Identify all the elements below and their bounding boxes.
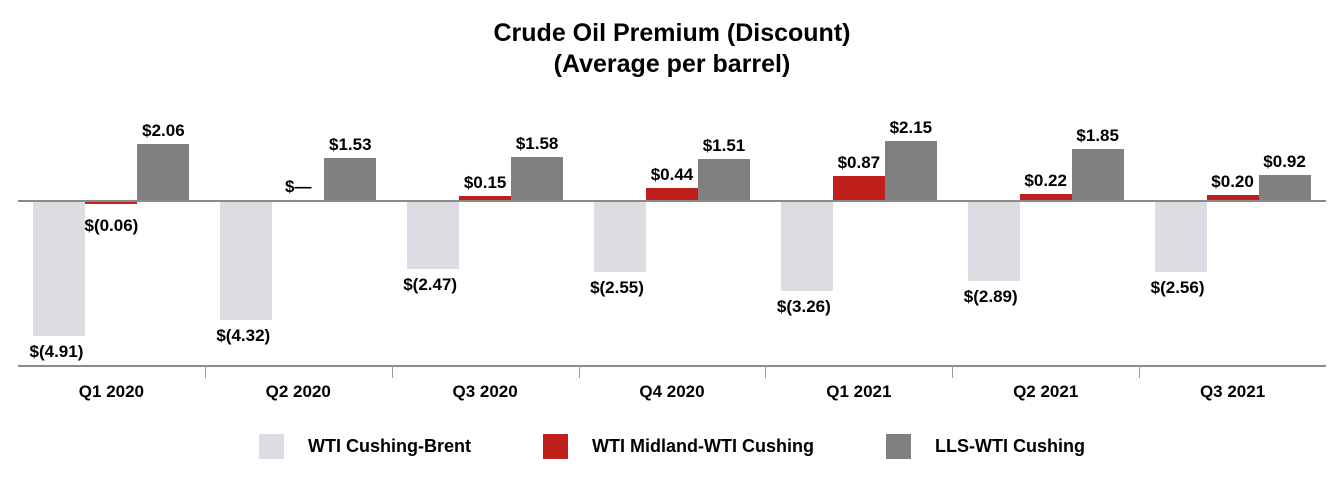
bar-value-label: $(4.32) <box>194 326 292 345</box>
bar-value-label: $(2.55) <box>568 278 666 297</box>
bar-value-label: $(2.89) <box>942 287 1040 306</box>
bar-value-label: $0.92 <box>1236 152 1334 171</box>
bar-value-label: $1.51 <box>675 136 773 155</box>
bar-0-6[interactable] <box>1155 202 1207 272</box>
legend-swatch-icon <box>543 434 568 459</box>
bar-group: $(4.32)$—$1.53 <box>205 100 392 365</box>
legend-swatch-icon <box>259 434 284 459</box>
bar-2-4[interactable] <box>885 141 937 200</box>
legend-item-2[interactable]: LLS-WTI Cushing <box>886 434 1085 459</box>
x-axis-line <box>18 365 1326 367</box>
bar-value-label: $(0.06) <box>62 216 160 235</box>
x-axis-tick <box>205 365 206 378</box>
legend-item-0[interactable]: WTI Cushing-Brent <box>259 434 471 459</box>
bar-2-0[interactable] <box>137 144 189 200</box>
bar-value-label: $(3.26) <box>755 297 853 316</box>
bar-1-2[interactable] <box>459 196 511 200</box>
chart-container: Crude Oil Premium (Discount) (Average pe… <box>0 0 1344 500</box>
x-axis-label-5: Q2 2021 <box>952 382 1139 402</box>
legend-swatch-icon <box>886 434 911 459</box>
bar-1-0[interactable] <box>85 202 137 204</box>
x-axis-tick <box>579 365 580 378</box>
bar-group: $(2.56)$0.20$0.92 <box>1139 100 1326 365</box>
legend-label: LLS-WTI Cushing <box>935 436 1085 457</box>
chart-title-line-1: Crude Oil Premium (Discount) <box>0 18 1344 49</box>
bar-group: $(2.47)$0.15$1.58 <box>392 100 579 365</box>
bar-value-label: $(2.56) <box>1129 278 1227 297</box>
bar-value-label: $1.85 <box>1049 126 1147 145</box>
bar-2-6[interactable] <box>1259 175 1311 200</box>
x-axis-tick <box>952 365 953 378</box>
bar-2-5[interactable] <box>1072 149 1124 200</box>
legend-spacer <box>471 446 543 447</box>
legend-label: WTI Midland-WTI Cushing <box>592 436 814 457</box>
bar-group: $(3.26)$0.87$2.15 <box>765 100 952 365</box>
chart-legend: WTI Cushing-BrentWTI Midland-WTI Cushing… <box>0 434 1344 459</box>
bar-group: $(2.55)$0.44$1.51 <box>579 100 766 365</box>
bar-0-2[interactable] <box>407 202 459 269</box>
bar-value-label: $2.06 <box>114 121 212 140</box>
bar-1-3[interactable] <box>646 188 698 200</box>
x-axis-label-6: Q3 2021 <box>1139 382 1326 402</box>
plot-area: $(4.91)$(0.06)$2.06$(4.32)$—$1.53$(2.47)… <box>18 100 1326 365</box>
x-axis-label-4: Q1 2021 <box>765 382 952 402</box>
bar-value-label: $1.58 <box>488 134 586 153</box>
bar-value-label: $(2.47) <box>381 275 479 294</box>
x-axis-tick <box>1139 365 1140 378</box>
legend-label: WTI Cushing-Brent <box>308 436 471 457</box>
bar-2-3[interactable] <box>698 159 750 200</box>
x-axis-label-2: Q3 2020 <box>392 382 579 402</box>
bar-group: $(2.89)$0.22$1.85 <box>952 100 1139 365</box>
bar-2-1[interactable] <box>324 158 376 200</box>
bar-value-label: $(4.91) <box>7 342 105 361</box>
x-axis-label-1: Q2 2020 <box>205 382 392 402</box>
chart-title-line-2: (Average per barrel) <box>0 49 1344 80</box>
chart-title: Crude Oil Premium (Discount) (Average pe… <box>0 18 1344 80</box>
bar-value-label: $2.15 <box>862 118 960 137</box>
bar-0-1[interactable] <box>220 202 272 320</box>
legend-item-1[interactable]: WTI Midland-WTI Cushing <box>543 434 814 459</box>
bar-group: $(4.91)$(0.06)$2.06 <box>18 100 205 365</box>
bar-2-2[interactable] <box>511 157 563 200</box>
x-axis-label-0: Q1 2020 <box>18 382 205 402</box>
bar-value-label: $1.53 <box>301 135 399 154</box>
bar-0-4[interactable] <box>781 202 833 291</box>
x-axis-label-3: Q4 2020 <box>579 382 766 402</box>
bar-1-5[interactable] <box>1020 194 1072 200</box>
x-axis-tick <box>392 365 393 378</box>
bar-1-6[interactable] <box>1207 195 1259 200</box>
bar-1-4[interactable] <box>833 176 885 200</box>
bar-0-5[interactable] <box>968 202 1020 281</box>
bar-0-3[interactable] <box>594 202 646 272</box>
x-axis-tick <box>765 365 766 378</box>
legend-spacer <box>814 446 886 447</box>
